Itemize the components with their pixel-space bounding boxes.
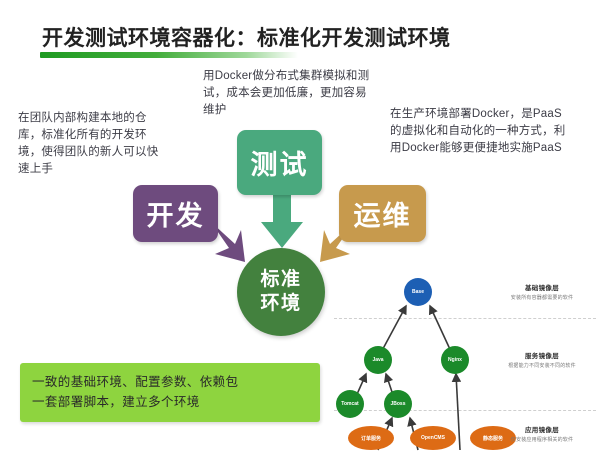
tree-node-app-2-label: OpenCMS	[421, 435, 445, 441]
tree-node-app-1-label: 订单服务	[361, 435, 381, 442]
tree-node-base[interactable]: Base	[404, 278, 432, 306]
note-development: 在团队内部构建本地的仓库，标准化所有的开发环境，使得团队的新人可以快速上手	[18, 110, 168, 178]
layer-label-service: 服务镜像层 根据能力不同安装不同的软件	[488, 350, 596, 369]
center-circle-line-1: 标准	[260, 268, 301, 292]
tree-node-jboss-label: JBoss	[390, 401, 405, 407]
tree-node-base-label: Base	[412, 289, 424, 295]
callout-benefits: 一致的基础环境、配置参数、依赖包 一套部署脚本，建立多个环境	[20, 363, 320, 422]
layer-application-subtitle: 仅安装应用程序相关的软件	[488, 436, 596, 443]
tree-node-tomcat[interactable]: Tomcat	[336, 390, 364, 418]
layer-base-title: 基础镜像层	[488, 282, 596, 292]
note-testing: 用Docker做分布式集群模拟和测试，成本会更加低廉，更加容易维护	[203, 68, 371, 119]
note-operations: 在生产环境部署Docker，是PaaS的虚拟化和自动化的一种方式，利用Docke…	[390, 106, 568, 157]
layer-label-application: 应用镜像层 仅安装应用程序相关的软件	[488, 424, 596, 443]
page-title: 开发测试环境容器化：标准化开发测试环境	[42, 22, 451, 52]
layer-service-title: 服务镜像层	[488, 350, 596, 360]
center-circle-standard-environment[interactable]: 标准 环境	[237, 248, 325, 336]
tree-node-app-2[interactable]: OpenCMS	[410, 426, 456, 450]
docker-image-layer-diagram: Base Java Nginx Tomcat JBoss 订单服务 OpenCM…	[330, 262, 598, 454]
layer-label-base: 基础镜像层 安装所有容器都需要的软件	[488, 282, 596, 301]
tree-node-nginx[interactable]: Nginx	[441, 346, 469, 374]
title-underline-rule	[40, 52, 298, 58]
tree-node-nginx-label: Nginx	[448, 357, 462, 363]
tree-node-app-1[interactable]: 订单服务	[348, 426, 394, 450]
role-label-operations: 运维	[354, 194, 412, 233]
tree-node-tomcat-label: Tomcat	[341, 401, 358, 407]
role-box-testing[interactable]: 测试	[237, 130, 322, 195]
center-circle-line-2: 环境	[260, 292, 301, 316]
layer-application-title: 应用镜像层	[488, 424, 596, 434]
layer-service-subtitle: 根据能力不同安装不同的软件	[488, 362, 596, 369]
layer-base-subtitle: 安装所有容器都需要的软件	[488, 294, 596, 301]
tree-node-jboss[interactable]: JBoss	[384, 390, 412, 418]
role-box-operations[interactable]: 运维	[339, 185, 426, 242]
callout-line-1: 一致的基础环境、配置参数、依赖包	[32, 372, 310, 392]
tree-node-java[interactable]: Java	[364, 346, 392, 374]
role-box-development[interactable]: 开发	[133, 185, 218, 242]
role-label-development: 开发	[147, 194, 205, 233]
tree-node-java-label: Java	[372, 357, 383, 363]
role-label-testing: 测试	[251, 143, 309, 182]
slide-canvas: 开发测试环境容器化：标准化开发测试环境 在团队内部构建本地的仓库，标准化所有的开…	[0, 0, 600, 458]
callout-line-2: 一套部署脚本，建立多个环境	[32, 392, 310, 412]
